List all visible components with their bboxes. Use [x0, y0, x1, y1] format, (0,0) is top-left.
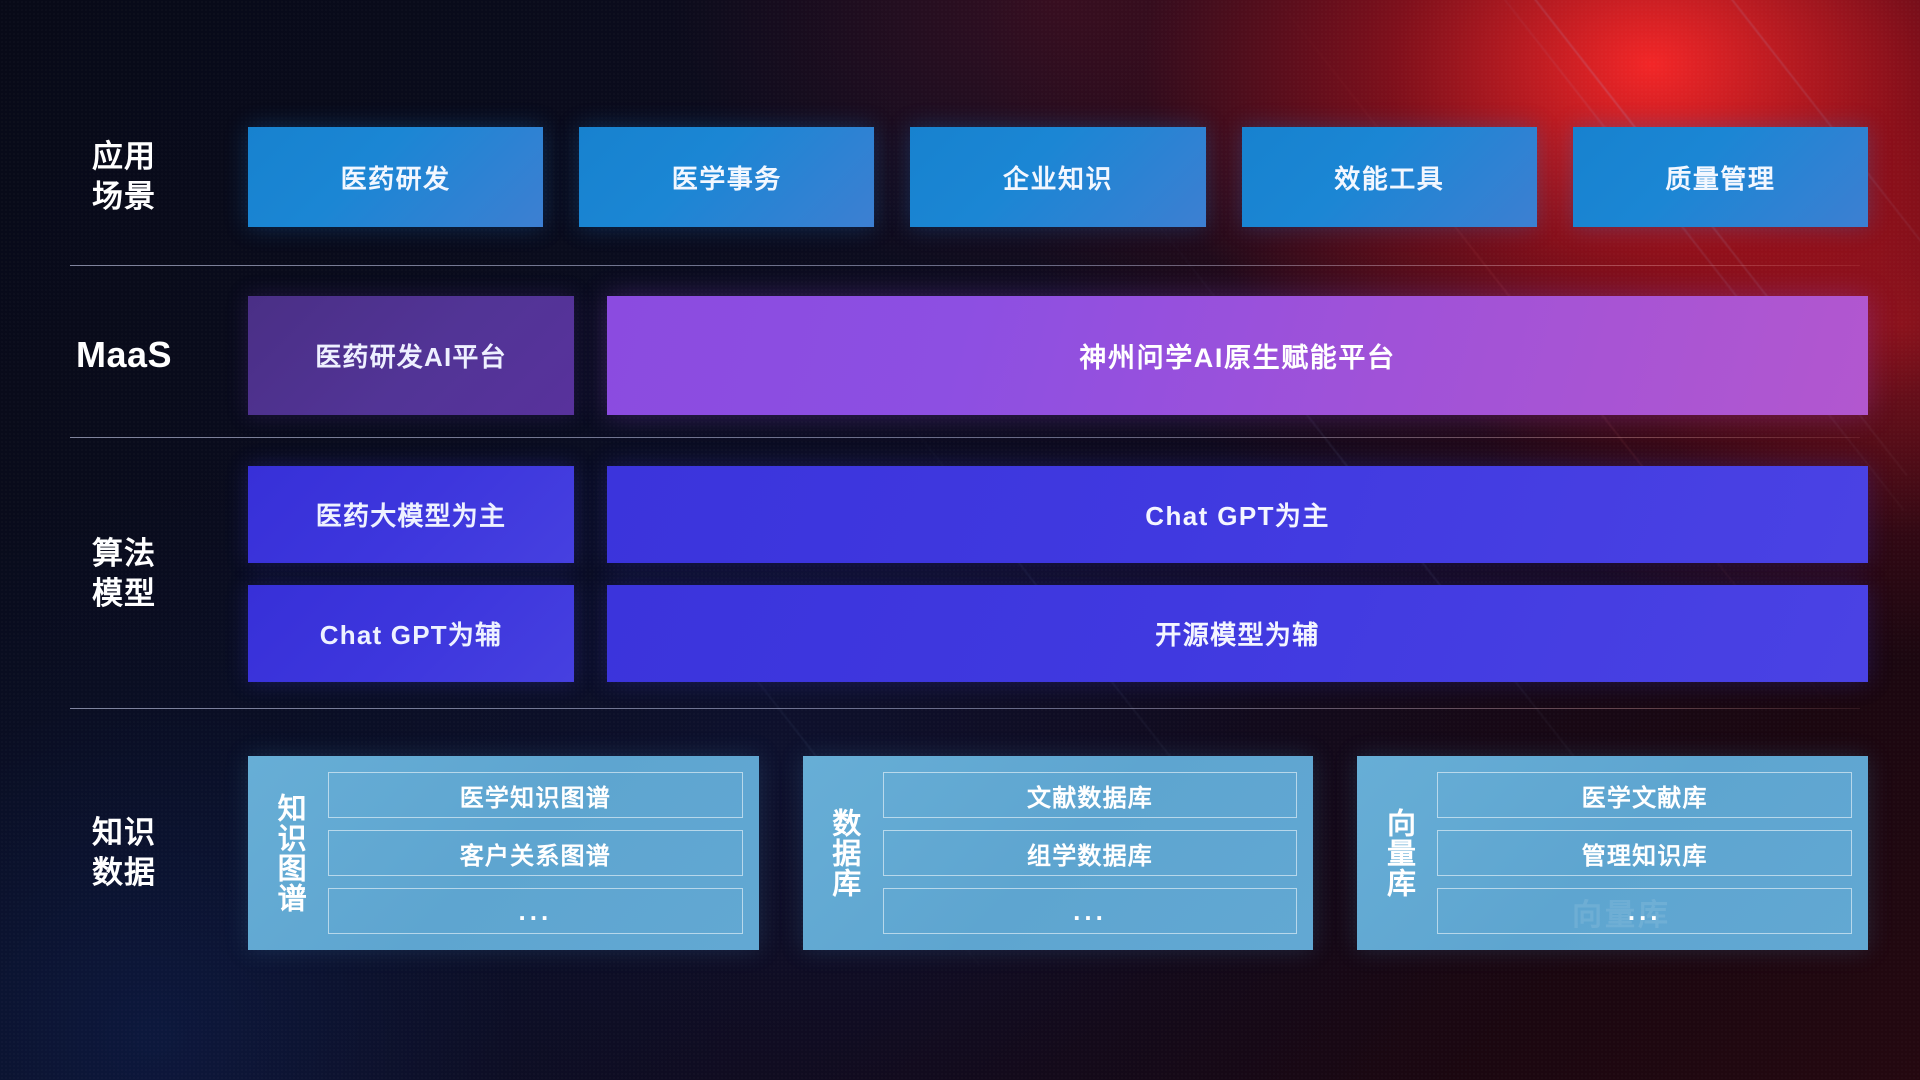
application-box-medical-affairs[interactable]: 医学事务 [579, 127, 874, 227]
tier-application-scenario: 应用 场景 医药研发 医学事务 企业知识 效能工具 质量管理 [0, 127, 1920, 227]
knowledge-item-management-knowledge-store[interactable]: 管理知识库 [1437, 830, 1852, 876]
knowledge-group-vector-store[interactable]: 向量库 医学文献库 管理知识库 ... [1357, 756, 1868, 950]
knowledge-item-omics-database[interactable]: 组学数据库 [883, 830, 1298, 876]
application-box-quality-management[interactable]: 质量管理 [1573, 127, 1868, 227]
knowledge-group-list: 知识图谱 医学知识图谱 客户关系图谱 ... 数据库 文献数据库 组学数据库 .… [248, 756, 1920, 950]
algorithm-box-chatgpt-primary[interactable]: Chat GPT为主 [607, 466, 1868, 563]
application-box-efficiency-tools[interactable]: 效能工具 [1242, 127, 1537, 227]
knowledge-item-literature-database[interactable]: 文献数据库 [883, 772, 1298, 818]
knowledge-item-list: 文献数据库 组学数据库 ... [875, 772, 1298, 934]
knowledge-item-more-graph[interactable]: ... [328, 888, 743, 934]
algorithm-row-secondary: Chat GPT为辅 开源模型为辅 [248, 585, 1868, 682]
knowledge-item-list: 医学知识图谱 客户关系图谱 ... [320, 772, 743, 934]
knowledge-group-title-vector-store: 向量库 [1367, 772, 1429, 934]
knowledge-item-more-database[interactable]: ... [883, 888, 1298, 934]
tier-label-application: 应用 场景 [0, 137, 248, 216]
application-box-medicine-rd[interactable]: 医药研发 [248, 127, 543, 227]
application-box-list: 医药研发 医学事务 企业知识 效能工具 质量管理 [248, 127, 1920, 227]
knowledge-item-more-vector[interactable]: ... [1437, 888, 1852, 934]
tier-maas: MaaS 医药研发AI平台 神州问学AI原生赋能平台 [0, 296, 1920, 415]
algorithm-row-primary: 医药大模型为主 Chat GPT为主 [248, 466, 1868, 563]
architecture-diagram: 应用 场景 医药研发 医学事务 企业知识 效能工具 质量管理 MaaS 医药研发… [0, 0, 1920, 1080]
knowledge-item-customer-relation-graph[interactable]: 客户关系图谱 [328, 830, 743, 876]
tier-divider-2 [70, 437, 1860, 438]
maas-box-list: 医药研发AI平台 神州问学AI原生赋能平台 [248, 296, 1920, 415]
algorithm-box-opensource-secondary[interactable]: 开源模型为辅 [607, 585, 1868, 682]
knowledge-group-title-database: 数据库 [813, 772, 875, 934]
application-box-enterprise-knowledge[interactable]: 企业知识 [910, 127, 1205, 227]
knowledge-item-medical-knowledge-graph[interactable]: 医学知识图谱 [328, 772, 743, 818]
algorithm-box-list: 医药大模型为主 Chat GPT为主 Chat GPT为辅 开源模型为辅 [248, 466, 1920, 682]
knowledge-item-list: 医学文献库 管理知识库 ... [1429, 772, 1852, 934]
tier-divider-3 [70, 708, 1860, 709]
algorithm-box-medicine-llm-primary[interactable]: 医药大模型为主 [248, 466, 574, 563]
tier-label-knowledge: 知识 数据 [0, 813, 248, 892]
maas-box-shenzhou-wenxue-platform[interactable]: 神州问学AI原生赋能平台 [607, 296, 1868, 415]
knowledge-group-knowledge-graph[interactable]: 知识图谱 医学知识图谱 客户关系图谱 ... [248, 756, 759, 950]
tier-divider-1 [70, 265, 1860, 266]
algorithm-box-chatgpt-secondary[interactable]: Chat GPT为辅 [248, 585, 574, 682]
tier-algorithm-model: 算法 模型 医药大模型为主 Chat GPT为主 Chat GPT为辅 开源模型… [0, 466, 1920, 682]
knowledge-group-title-knowledge-graph: 知识图谱 [258, 772, 320, 934]
knowledge-item-medical-literature-store[interactable]: 医学文献库 [1437, 772, 1852, 818]
maas-box-medicine-ai-platform[interactable]: 医药研发AI平台 [248, 296, 574, 415]
tier-label-algorithm: 算法 模型 [0, 534, 248, 613]
knowledge-group-database[interactable]: 数据库 文献数据库 组学数据库 ... [803, 756, 1314, 950]
tier-label-maas: MaaS [0, 332, 248, 378]
tier-knowledge-data: 知识 数据 知识图谱 医学知识图谱 客户关系图谱 ... 数据库 文献数据库 组… [0, 734, 1920, 972]
